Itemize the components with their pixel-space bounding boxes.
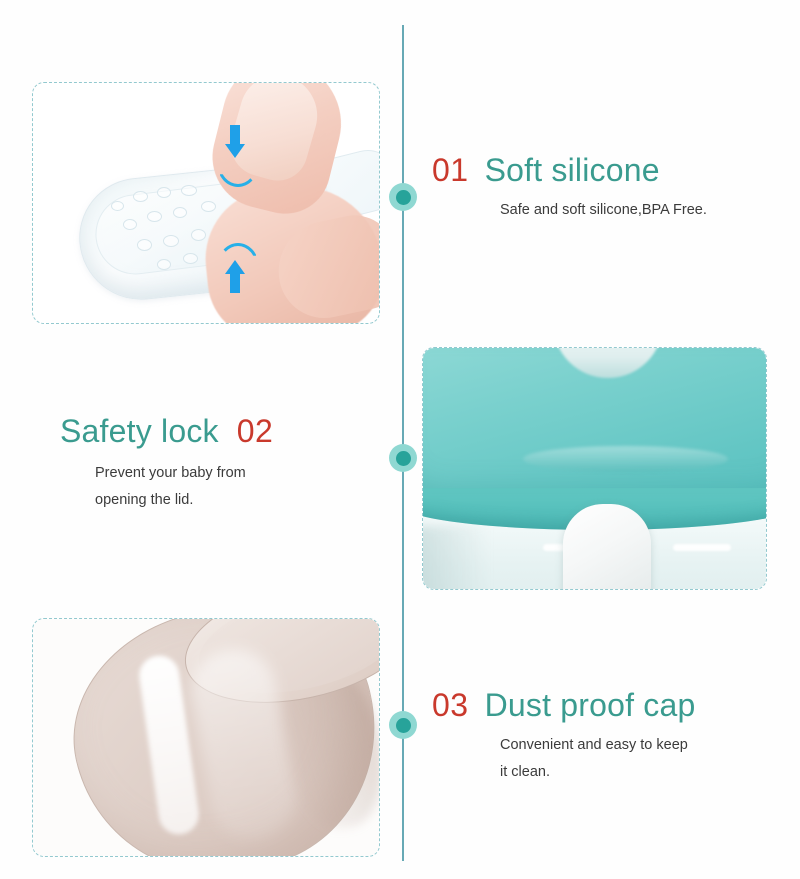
spoon-nub — [147, 211, 162, 222]
feature-3-number: 03 — [432, 687, 469, 724]
safety-lock-latch — [563, 504, 651, 589]
feature-1-text-block: 01 Soft silicone Safe and soft silicone,… — [432, 152, 707, 224]
timeline-dot-3 — [389, 711, 417, 739]
feature-3-text-block: 03 Dust proof cap Convenient and easy to… — [432, 687, 696, 786]
safety-lock-photo — [423, 348, 766, 589]
feature-3-photo-frame — [32, 618, 380, 857]
lid-crease — [523, 446, 728, 472]
feature-2-text-block: Safety lock 02 Prevent your baby from op… — [60, 413, 345, 514]
dust-proof-cap-photo — [33, 619, 379, 856]
feature-3-heading: 03 Dust proof cap — [432, 687, 696, 724]
feature-3-description-line1: Convenient and easy to keep — [500, 732, 696, 759]
spoon-nub — [111, 201, 124, 211]
spoon-nub — [157, 259, 171, 270]
feature-3-title: Dust proof cap — [485, 687, 696, 724]
feature-1-photo-frame — [32, 82, 380, 324]
timeline-dot-2 — [389, 444, 417, 472]
feature-2-number: 02 — [237, 413, 274, 450]
infographic-page: 01 Soft silicone Safe and soft silicone,… — [0, 0, 800, 879]
feature-2-heading: Safety lock 02 — [60, 413, 345, 450]
spoon-nub — [157, 187, 171, 198]
spoon-nub — [163, 235, 179, 247]
feature-3-description: Convenient and easy to keep it clean. — [500, 732, 696, 786]
feature-1-description: Safe and soft silicone,BPA Free. — [500, 197, 707, 224]
hand-fingers — [182, 83, 379, 323]
timeline-dot-1 — [389, 183, 417, 211]
feature-2-title: Safety lock — [60, 413, 219, 450]
silicone-spoon-photo — [33, 83, 379, 323]
feature-1-number: 01 — [432, 152, 469, 189]
feature-1-heading: 01 Soft silicone — [432, 152, 707, 189]
arrow-down-icon — [225, 125, 245, 159]
spoon-nub — [133, 191, 148, 202]
feature-2-description-line2: opening the lid. — [95, 487, 345, 514]
feature-2-description: Prevent your baby from opening the lid. — [95, 460, 345, 514]
feature-3-description-line2: it clean. — [500, 759, 696, 786]
feature-1-title: Soft silicone — [485, 152, 660, 189]
left-shadow — [423, 526, 489, 589]
bottle-highlight — [673, 544, 731, 551]
spoon-nub — [137, 239, 152, 251]
spoon-nub — [123, 219, 137, 230]
feature-2-photo-frame — [422, 347, 767, 590]
arrow-up-icon — [225, 259, 245, 293]
feature-2-description-line1: Prevent your baby from — [95, 460, 345, 487]
